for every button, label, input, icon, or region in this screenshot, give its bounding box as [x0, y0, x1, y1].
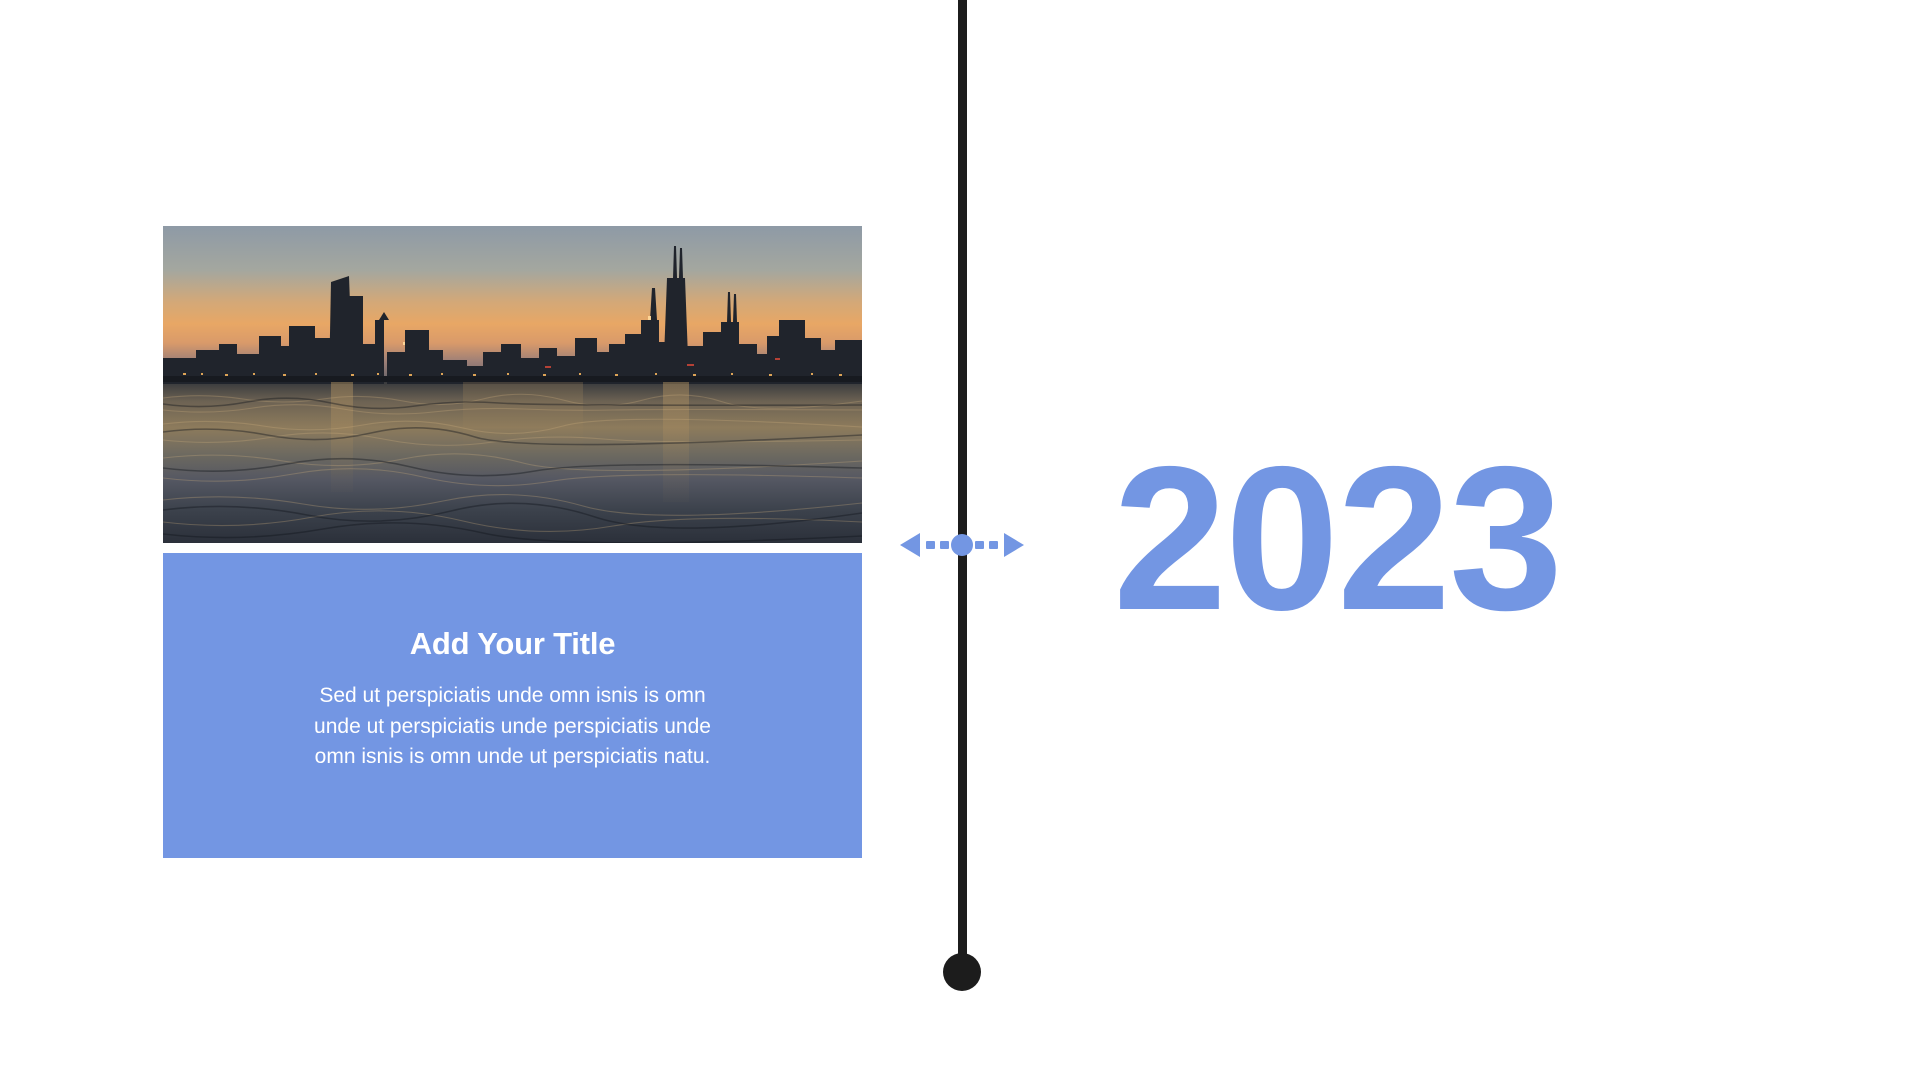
double-arrow-connector [900, 528, 1024, 562]
photo-frame [163, 226, 862, 543]
card-body-line: Sed ut perspiciatis unde omn isnis is om… [314, 681, 711, 711]
vertical-timeline-axis [958, 0, 967, 972]
caption-card: Add Your Title Sed ut perspiciatis unde … [163, 553, 862, 858]
timeline-end-dot [943, 953, 981, 991]
card-body: Sed ut perspiciatis unde omn isnis is om… [314, 681, 711, 772]
arrow-left-head [900, 533, 920, 557]
arrow-right-head [1004, 533, 1024, 557]
card-body-line: omn isnis is omn unde ut perspiciatis na… [314, 742, 711, 772]
skyline-photo [163, 226, 862, 543]
connector-center-dot [951, 534, 973, 556]
card-title: Add Your Title [410, 627, 616, 661]
milestone-year: 2023 [1113, 436, 1561, 641]
card-body-line: unde ut perspiciatis unde perspiciatis u… [314, 712, 711, 742]
timeline-slide: Add Your Title Sed ut perspiciatis unde … [0, 0, 1920, 1080]
